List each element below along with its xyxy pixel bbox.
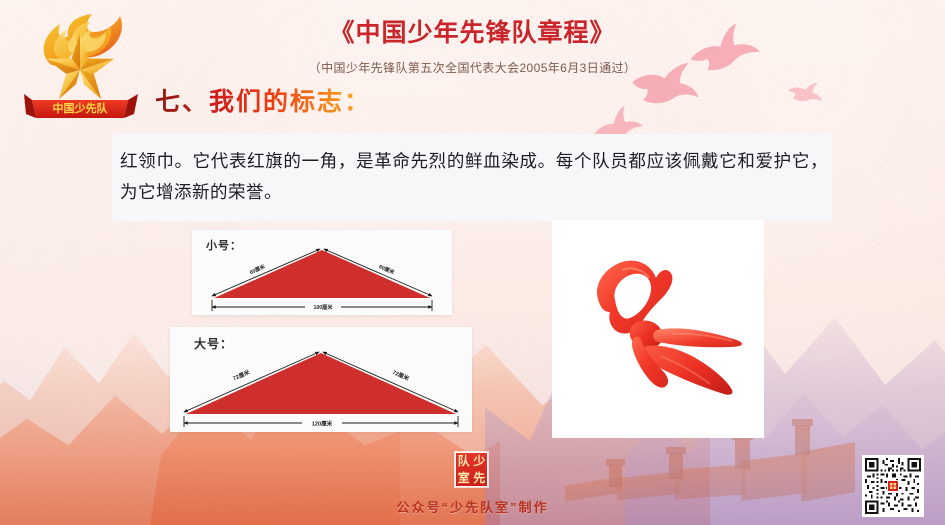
diagram-small-side-right: 60厘米 bbox=[378, 262, 397, 276]
body-text-panel: 红领巾。它代表红旗的一角，是革命先烈的鲜血染成。每个队员都应该佩戴它和爱护它，为… bbox=[112, 134, 832, 221]
qr-code[interactable] bbox=[862, 455, 924, 517]
scarf-triangle-small bbox=[214, 250, 430, 298]
diagram-small-base: 100厘米 bbox=[313, 303, 333, 311]
section-heading: 七、我们的标志： bbox=[155, 82, 371, 118]
young-pioneers-emblem-icon: 中国少先队 bbox=[14, 8, 146, 130]
emblem-banner-text: 中国少先队 bbox=[53, 101, 109, 115]
emblem-banner: 中国少先队 bbox=[24, 94, 138, 118]
body-paragraph: 红领巾。它代表红旗的一角，是革命先烈的鲜血染成。每个队员都应该佩戴它和爱护它，为… bbox=[120, 146, 828, 207]
diagram-large-side-left: 72厘米 bbox=[232, 368, 252, 383]
footer-credit: 公众号“少先队室”制作 bbox=[0, 497, 945, 516]
diagram-large-side-right: 72厘米 bbox=[391, 368, 411, 383]
publisher-logo-char: 少 bbox=[473, 455, 485, 467]
publisher-logo-char: 室 bbox=[458, 472, 470, 484]
slide-root: 中国少先队 《中国少年先锋队章程》 （中国少年先锋队第五次全国代表大会2005年… bbox=[0, 0, 945, 525]
diagram-svg-large: 72厘米 72厘米 120厘米 bbox=[170, 327, 472, 432]
diagram-svg-small: 60厘米 60厘米 100厘米 bbox=[192, 230, 452, 315]
red-scarf-photo bbox=[552, 220, 764, 438]
scarf-triangle-large bbox=[186, 353, 456, 414]
diagram-small-side-left: 60厘米 bbox=[248, 262, 267, 276]
diagram-card-small: 小号： 60厘米 60厘米 100厘米 bbox=[192, 230, 452, 315]
publisher-logo-char: 队 bbox=[458, 455, 470, 467]
diagram-large-base: 120厘米 bbox=[312, 420, 333, 428]
diagram-card-large: 大号： 72厘米 72厘米 120厘米 bbox=[170, 327, 472, 432]
publisher-logo-char: 先 bbox=[473, 472, 485, 484]
publisher-logo: 队 少 室 先 bbox=[455, 452, 488, 487]
